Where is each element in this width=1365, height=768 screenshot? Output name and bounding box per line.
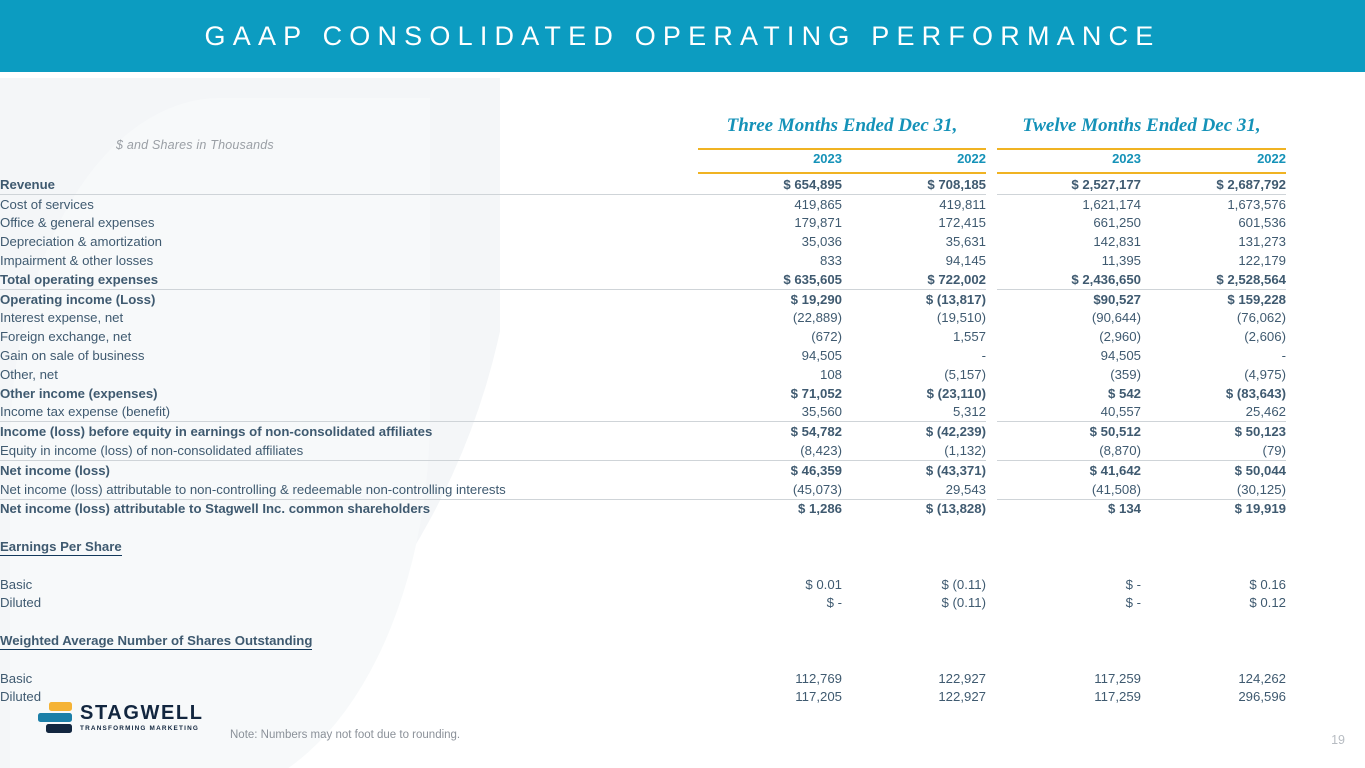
cell-q-2022: $ (42,239) bbox=[842, 422, 986, 441]
column-gap bbox=[986, 175, 997, 194]
row-tail bbox=[1286, 384, 1365, 403]
cell-y-2023: $ - bbox=[997, 594, 1141, 613]
row-label: Other, net bbox=[0, 365, 698, 384]
cell-q-2023: 35,560 bbox=[698, 403, 842, 422]
column-gap bbox=[986, 480, 997, 499]
column-gap bbox=[986, 194, 997, 213]
logo-bar-middle bbox=[38, 713, 72, 722]
table-row: Gain on sale of business94,505-94,505- bbox=[0, 346, 1365, 365]
spacer-cell bbox=[0, 518, 1365, 537]
cell-y-2023: 94,505 bbox=[997, 346, 1141, 365]
row-tail bbox=[1286, 214, 1365, 233]
column-gap bbox=[986, 441, 997, 460]
cell-y-2023: $ 50,512 bbox=[997, 422, 1141, 441]
table-row: Revenue$ 654,895$ 708,185$ 2,527,177$ 2,… bbox=[0, 175, 1365, 194]
column-gap bbox=[986, 346, 997, 365]
row-label: Impairment & other losses bbox=[0, 251, 698, 270]
table-row: Equity in income (loss) of non-consolida… bbox=[0, 441, 1365, 460]
cell-q-2022: $ 722,002 bbox=[842, 270, 986, 289]
row-label: Diluted bbox=[0, 594, 698, 613]
row-tail bbox=[1286, 422, 1365, 441]
cell-y-2022: (30,125) bbox=[1141, 480, 1286, 499]
row-tail bbox=[1286, 309, 1365, 328]
column-header-q-2023: 2023 bbox=[698, 151, 842, 166]
cell-q-2022: 29,543 bbox=[842, 480, 986, 499]
cell-q-2023: 35,036 bbox=[698, 232, 842, 251]
row-label: Income tax expense (benefit) bbox=[0, 403, 698, 422]
row-label: Revenue bbox=[0, 175, 698, 194]
column-gap bbox=[986, 327, 997, 346]
cell-y-2023: 1,621,174 bbox=[997, 194, 1141, 213]
cell-y-2022: $ 0.16 bbox=[1141, 575, 1286, 594]
spacer-row bbox=[0, 518, 1365, 537]
row-tail bbox=[1286, 365, 1365, 384]
column-gap bbox=[986, 270, 997, 289]
cell-q-2022: - bbox=[842, 346, 986, 365]
row-tail bbox=[1286, 669, 1365, 688]
cell-y-2023: 661,250 bbox=[997, 214, 1141, 233]
cell-y-2022: $ 19,919 bbox=[1141, 499, 1286, 518]
gold-rule-quarter-top bbox=[698, 148, 986, 150]
spacer-row bbox=[0, 556, 1365, 575]
row-label: Office & general expenses bbox=[0, 214, 698, 233]
cell-y-2023: $ 134 bbox=[997, 499, 1141, 518]
cell-q-2022: 35,631 bbox=[842, 232, 986, 251]
column-group-header-twelve-months: Twelve Months Ended Dec 31, bbox=[997, 115, 1286, 137]
cell-q-2022: 122,927 bbox=[842, 669, 986, 688]
cell-y-2023: $ 2,436,650 bbox=[997, 270, 1141, 289]
cell-q-2023: 117,205 bbox=[698, 688, 842, 707]
table-row: Basic112,769122,927117,259124,262 bbox=[0, 669, 1365, 688]
cell-q-2023: $ 654,895 bbox=[698, 175, 842, 194]
row-label: Other income (expenses) bbox=[0, 384, 698, 403]
table-row: Interest expense, net(22,889)(19,510)(90… bbox=[0, 309, 1365, 328]
cell-y-2023: $90,527 bbox=[997, 289, 1141, 308]
row-label: Net income (loss) attributable to non-co… bbox=[0, 480, 698, 499]
table-row: Other income (expenses)$ 71,052$ (23,110… bbox=[0, 384, 1365, 403]
cell-y-2022: 601,536 bbox=[1141, 214, 1286, 233]
weighted-average-shares-title-text: Weighted Average Number of Shares Outsta… bbox=[0, 633, 312, 650]
cell-q-2023: $ 46,359 bbox=[698, 460, 842, 479]
cell-q-2022: $ (0.11) bbox=[842, 594, 986, 613]
row-label: Cost of services bbox=[0, 194, 698, 213]
income-statement-table: Revenue$ 654,895$ 708,185$ 2,527,177$ 2,… bbox=[0, 175, 1365, 706]
cell-y-2023: $ 41,642 bbox=[997, 460, 1141, 479]
column-gap bbox=[986, 403, 997, 422]
cell-q-2023: 112,769 bbox=[698, 669, 842, 688]
column-gap bbox=[986, 214, 997, 233]
cell-y-2022: 124,262 bbox=[1141, 669, 1286, 688]
logo-wordmark: STAGWELL TRANSFORMING MARKETING bbox=[80, 703, 204, 732]
cell-y-2023: 117,259 bbox=[997, 669, 1141, 688]
spacer-row bbox=[0, 650, 1365, 669]
cell-q-2022: (1,132) bbox=[842, 441, 986, 460]
table-row: Diluted117,205122,927117,259296,596 bbox=[0, 688, 1365, 707]
logo-bar-top bbox=[49, 702, 72, 711]
cell-q-2022: $ (13,817) bbox=[842, 289, 986, 308]
cell-y-2022: 25,462 bbox=[1141, 403, 1286, 422]
cell-q-2022: (19,510) bbox=[842, 309, 986, 328]
cell-q-2023: (22,889) bbox=[698, 309, 842, 328]
cell-q-2023: 179,871 bbox=[698, 214, 842, 233]
table-row: Net income (loss) attributable to non-co… bbox=[0, 480, 1365, 499]
column-header-q-2022: 2022 bbox=[842, 151, 986, 166]
cell-q-2023: $ 1,286 bbox=[698, 499, 842, 518]
cell-y-2022: (79) bbox=[1141, 441, 1286, 460]
row-label: Operating income (Loss) bbox=[0, 289, 698, 308]
cell-q-2023: $ 54,782 bbox=[698, 422, 842, 441]
cell-q-2022: (5,157) bbox=[842, 365, 986, 384]
cell-y-2023: 117,259 bbox=[997, 688, 1141, 707]
cell-q-2023: 833 bbox=[698, 251, 842, 270]
table-row: Cost of services419,865419,8111,621,1741… bbox=[0, 194, 1365, 213]
cell-y-2022: $ 2,687,792 bbox=[1141, 175, 1286, 194]
section-title-row: Earnings Per Share bbox=[0, 537, 1365, 556]
cell-q-2022: 122,927 bbox=[842, 688, 986, 707]
table-row: Income (loss) before equity in earnings … bbox=[0, 422, 1365, 441]
financial-statement: $ and Shares in Thousands Three Months E… bbox=[0, 72, 1365, 768]
table-row: Office & general expenses179,871172,4156… bbox=[0, 214, 1365, 233]
column-gap bbox=[986, 594, 997, 613]
row-tail bbox=[1286, 346, 1365, 365]
cell-q-2023: $ 71,052 bbox=[698, 384, 842, 403]
cell-y-2022: 131,273 bbox=[1141, 232, 1286, 251]
column-gap bbox=[986, 460, 997, 479]
table-row: Impairment & other losses83394,14511,395… bbox=[0, 251, 1365, 270]
column-group-header-three-months: Three Months Ended Dec 31, bbox=[698, 115, 986, 137]
logo-bar-bottom bbox=[46, 724, 72, 733]
page-number: 19 bbox=[1331, 733, 1345, 747]
cell-q-2023: $ 19,290 bbox=[698, 289, 842, 308]
spacer-cell bbox=[0, 612, 1365, 631]
row-tail bbox=[1286, 251, 1365, 270]
column-gap bbox=[986, 422, 997, 441]
column-gap bbox=[986, 309, 997, 328]
row-tail bbox=[1286, 289, 1365, 308]
row-label: Depreciation & amortization bbox=[0, 232, 698, 251]
slide-header-bar: GAAP CONSOLIDATED OPERATING PERFORMANCE bbox=[0, 0, 1365, 72]
cell-y-2023: $ 542 bbox=[997, 384, 1141, 403]
cell-q-2023: $ - bbox=[698, 594, 842, 613]
table-row: Total operating expenses$ 635,605$ 722,0… bbox=[0, 270, 1365, 289]
row-tail bbox=[1286, 575, 1365, 594]
column-gap bbox=[986, 365, 997, 384]
cell-q-2022: 1,557 bbox=[842, 327, 986, 346]
row-tail bbox=[1286, 232, 1365, 251]
cell-q-2022: 5,312 bbox=[842, 403, 986, 422]
cell-q-2023: 419,865 bbox=[698, 194, 842, 213]
row-tail bbox=[1286, 175, 1365, 194]
row-tail bbox=[1286, 327, 1365, 346]
column-gap bbox=[986, 384, 997, 403]
column-gap bbox=[986, 499, 997, 518]
cell-q-2022: $ (13,828) bbox=[842, 499, 986, 518]
gold-rule-quarter-bottom bbox=[698, 172, 986, 174]
row-tail bbox=[1286, 403, 1365, 422]
spacer-row bbox=[0, 612, 1365, 631]
cell-q-2022: $ (23,110) bbox=[842, 384, 986, 403]
row-label: Interest expense, net bbox=[0, 309, 698, 328]
spacer-cell bbox=[0, 650, 1365, 669]
row-label: Gain on sale of business bbox=[0, 346, 698, 365]
table-row: Other, net108(5,157)(359)(4,975) bbox=[0, 365, 1365, 384]
row-label: Income (loss) before equity in earnings … bbox=[0, 422, 698, 441]
cell-y-2022: (2,606) bbox=[1141, 327, 1286, 346]
cell-y-2022: (4,975) bbox=[1141, 365, 1286, 384]
cell-y-2023: (8,870) bbox=[997, 441, 1141, 460]
cell-q-2023: (8,423) bbox=[698, 441, 842, 460]
cell-y-2022: 296,596 bbox=[1141, 688, 1286, 707]
cell-q-2022: 419,811 bbox=[842, 194, 986, 213]
logo-company-name: STAGWELL bbox=[80, 703, 204, 723]
row-label: Basic bbox=[0, 575, 698, 594]
weighted-average-shares-title: Weighted Average Number of Shares Outsta… bbox=[0, 631, 1365, 650]
cell-y-2022: $ 2,528,564 bbox=[1141, 270, 1286, 289]
cell-q-2022: 94,145 bbox=[842, 251, 986, 270]
units-caption: $ and Shares in Thousands bbox=[116, 138, 274, 152]
cell-y-2022: $ 50,044 bbox=[1141, 460, 1286, 479]
row-label: Net income (loss) attributable to Stagwe… bbox=[0, 499, 698, 518]
cell-y-2022: - bbox=[1141, 346, 1286, 365]
table-row: Basic$ 0.01$ (0.11)$ -$ 0.16 bbox=[0, 575, 1365, 594]
row-tail bbox=[1286, 594, 1365, 613]
stagwell-logo-mark-icon bbox=[38, 700, 72, 736]
column-gap bbox=[986, 232, 997, 251]
cell-q-2023: $ 0.01 bbox=[698, 575, 842, 594]
column-header-y-2022: 2022 bbox=[1141, 151, 1286, 166]
cell-q-2022: $ (0.11) bbox=[842, 575, 986, 594]
cell-y-2023: 142,831 bbox=[997, 232, 1141, 251]
cell-q-2022: 172,415 bbox=[842, 214, 986, 233]
row-tail bbox=[1286, 499, 1365, 518]
earnings-per-share-title: Earnings Per Share bbox=[0, 537, 1365, 556]
table-row: Depreciation & amortization35,03635,6311… bbox=[0, 232, 1365, 251]
cell-q-2023: (672) bbox=[698, 327, 842, 346]
cell-y-2022: $ 0.12 bbox=[1141, 594, 1286, 613]
cell-q-2023: $ 635,605 bbox=[698, 270, 842, 289]
page-title: GAAP CONSOLIDATED OPERATING PERFORMANCE bbox=[0, 0, 1365, 72]
cell-y-2022: $ (83,643) bbox=[1141, 384, 1286, 403]
cell-y-2023: $ 2,527,177 bbox=[997, 175, 1141, 194]
row-label: Total operating expenses bbox=[0, 270, 698, 289]
cell-y-2023: (90,644) bbox=[997, 309, 1141, 328]
table-row: Net income (loss) attributable to Stagwe… bbox=[0, 499, 1365, 518]
column-gap bbox=[986, 669, 997, 688]
cell-q-2023: 108 bbox=[698, 365, 842, 384]
cell-y-2022: 122,179 bbox=[1141, 251, 1286, 270]
cell-y-2022: $ 50,123 bbox=[1141, 422, 1286, 441]
row-tail bbox=[1286, 194, 1365, 213]
column-header-y-2023: 2023 bbox=[997, 151, 1141, 166]
logo-tagline: TRANSFORMING MARKETING bbox=[80, 726, 204, 732]
footnote: Note: Numbers may not foot due to roundi… bbox=[230, 729, 460, 741]
table-row: Net income (loss)$ 46,359$ (43,371)$ 41,… bbox=[0, 460, 1365, 479]
row-tail bbox=[1286, 480, 1365, 499]
column-gap bbox=[986, 251, 997, 270]
cell-y-2023: (359) bbox=[997, 365, 1141, 384]
table-row: Operating income (Loss)$ 19,290$ (13,817… bbox=[0, 289, 1365, 308]
row-label: Basic bbox=[0, 669, 698, 688]
table-row: Income tax expense (benefit)35,5605,3124… bbox=[0, 403, 1365, 422]
row-label: Net income (loss) bbox=[0, 460, 698, 479]
cell-y-2023: 40,557 bbox=[997, 403, 1141, 422]
cell-y-2022: 1,673,576 bbox=[1141, 194, 1286, 213]
cell-q-2023: (45,073) bbox=[698, 480, 842, 499]
spacer-cell bbox=[0, 556, 1365, 575]
cell-y-2022: $ 159,228 bbox=[1141, 289, 1286, 308]
section-title-row: Weighted Average Number of Shares Outsta… bbox=[0, 631, 1365, 650]
earnings-per-share-title-text: Earnings Per Share bbox=[0, 539, 122, 556]
row-tail bbox=[1286, 688, 1365, 707]
column-gap bbox=[986, 688, 997, 707]
table-row: Diluted$ -$ (0.11)$ -$ 0.12 bbox=[0, 594, 1365, 613]
row-tail bbox=[1286, 460, 1365, 479]
gold-rule-year-top bbox=[997, 148, 1286, 150]
row-label: Equity in income (loss) of non-consolida… bbox=[0, 441, 698, 460]
gold-rule-year-bottom bbox=[997, 172, 1286, 174]
cell-y-2023: (2,960) bbox=[997, 327, 1141, 346]
column-gap bbox=[986, 575, 997, 594]
cell-y-2023: 11,395 bbox=[997, 251, 1141, 270]
cell-y-2023: (41,508) bbox=[997, 480, 1141, 499]
stagwell-logo: STAGWELL TRANSFORMING MARKETING bbox=[38, 700, 204, 736]
row-tail bbox=[1286, 441, 1365, 460]
cell-q-2022: $ 708,185 bbox=[842, 175, 986, 194]
cell-y-2023: $ - bbox=[997, 575, 1141, 594]
cell-q-2023: 94,505 bbox=[698, 346, 842, 365]
cell-q-2022: $ (43,371) bbox=[842, 460, 986, 479]
row-label: Foreign exchange, net bbox=[0, 327, 698, 346]
table-row: Foreign exchange, net(672)1,557(2,960)(2… bbox=[0, 327, 1365, 346]
cell-y-2022: (76,062) bbox=[1141, 309, 1286, 328]
row-tail bbox=[1286, 270, 1365, 289]
column-gap bbox=[986, 289, 997, 308]
